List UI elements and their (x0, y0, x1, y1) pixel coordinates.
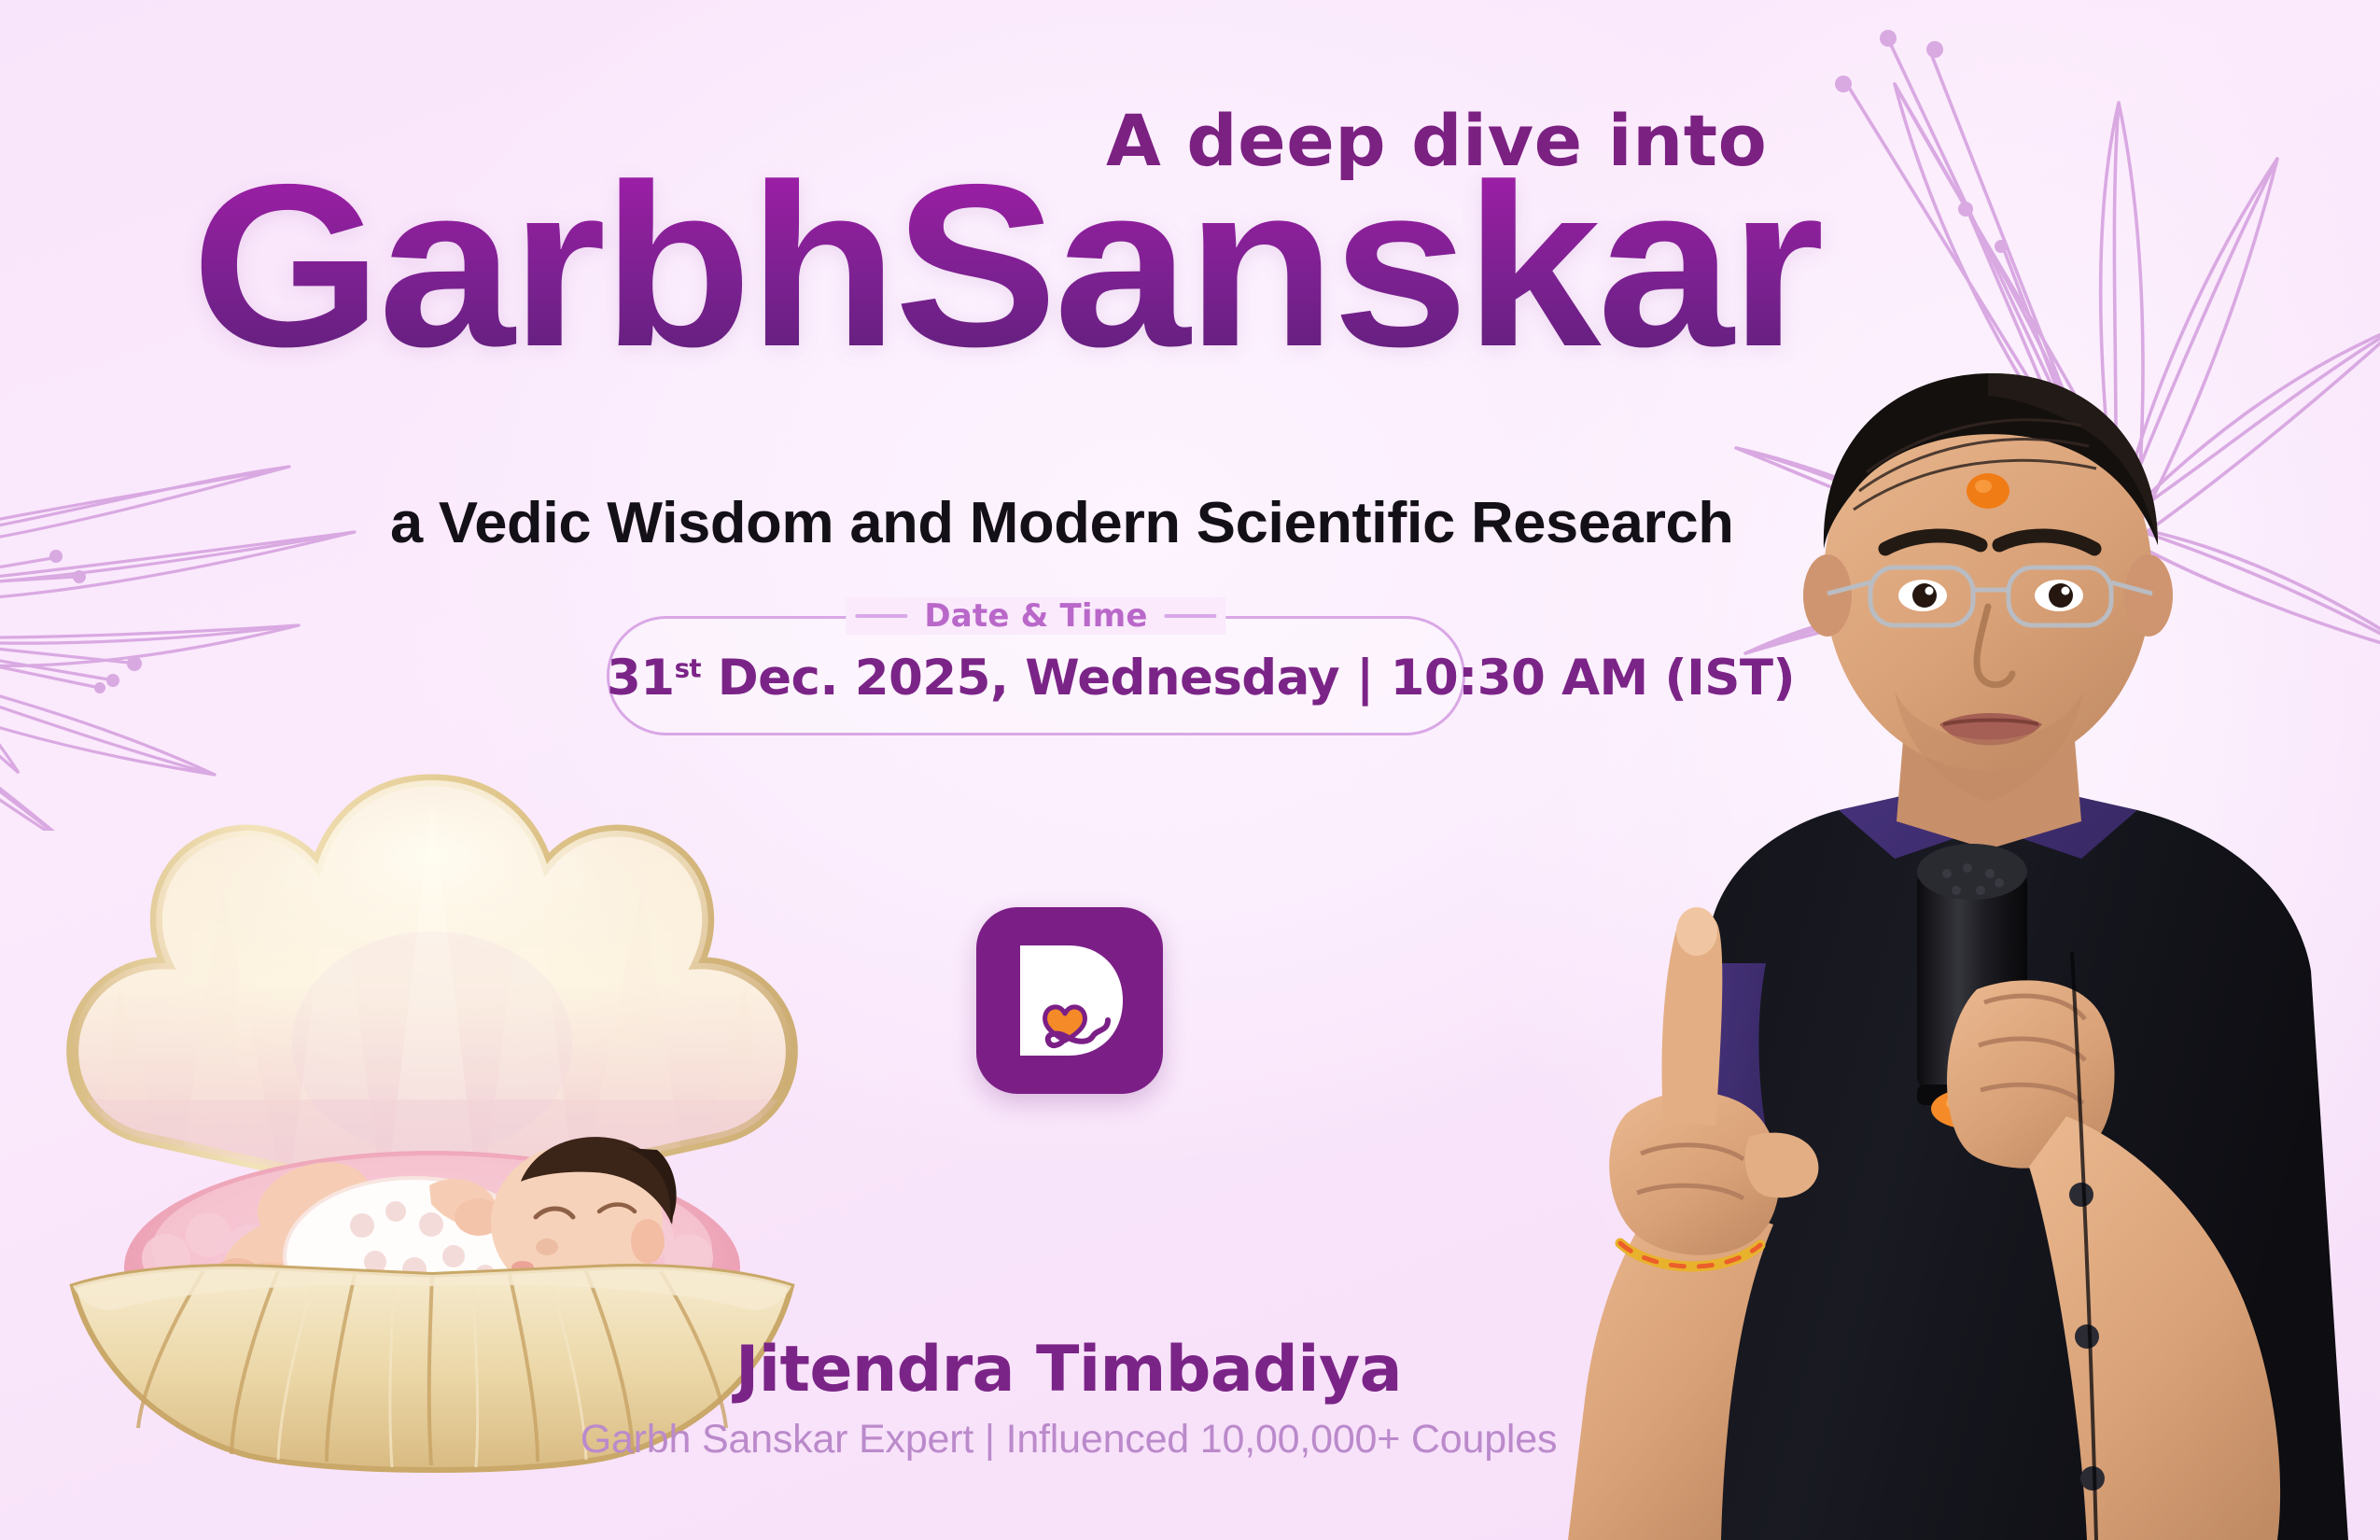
speaker-role: Garbh Sanskar Expert | Influenced 10,00,… (560, 1417, 1577, 1463)
legend-rule-right (1165, 614, 1217, 618)
webinar-promo-banner: A deep dive into GarbhSanskar a Vedic Wi… (0, 0, 2380, 1540)
datetime-day-suffix: st (675, 653, 701, 683)
datetime-legend: Date & Time (846, 597, 1225, 635)
datetime-badge: Date & Time 31st Dec. 2025, Wednesday | … (607, 616, 1465, 735)
logo-mark-icon (1000, 931, 1140, 1071)
legend-rule-left (855, 614, 907, 618)
datetime-value: 31st Dec. 2025, Wednesday | 10:30 AM (IS… (607, 650, 1465, 707)
shell-upper (54, 780, 810, 1211)
speaker-name: Jitendra Timbadiya (597, 1333, 1540, 1407)
speaker-photo (1428, 299, 2380, 1540)
datetime-day-number: 31 (607, 650, 675, 707)
datetime-legend-label: Date & Time (924, 597, 1147, 635)
app-logo-badge (976, 907, 1163, 1094)
